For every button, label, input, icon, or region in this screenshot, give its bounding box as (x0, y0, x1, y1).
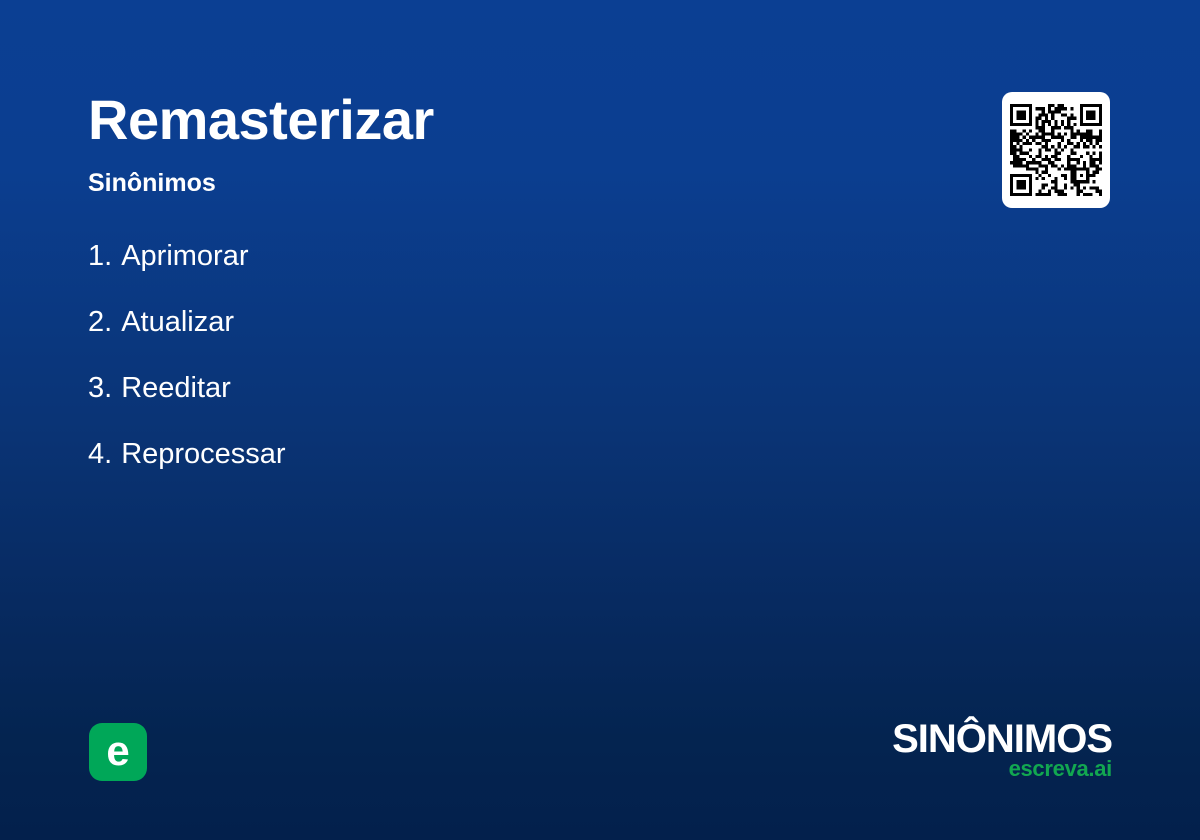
list-item: 1. Aprimorar (88, 236, 868, 302)
escreva-logo-badge[interactable]: e (89, 723, 147, 781)
list-item: 3. Reeditar (88, 368, 868, 434)
brand-name: SINÔNIMOS (892, 718, 1112, 760)
synonym-list: 1. Aprimorar 2. Atualizar 3. Reeditar 4.… (88, 236, 868, 500)
page-title: Remasterizar (88, 88, 434, 152)
list-item-index: 1. (88, 236, 112, 276)
list-item-label: Atualizar (121, 302, 234, 342)
list-item-label: Reeditar (121, 368, 231, 408)
list-item-label: Aprimorar (121, 236, 248, 276)
list-item-index: 4. (88, 434, 112, 474)
list-item-index: 2. (88, 302, 112, 342)
brand-lockup: SINÔNIMOS escreva.ai (892, 718, 1112, 781)
list-item-index: 3. (88, 368, 112, 408)
list-item-label: Reprocessar (121, 434, 285, 474)
page-subtitle: Sinônimos (88, 167, 216, 199)
list-item: 4. Reprocessar (88, 434, 868, 500)
list-item: 2. Atualizar (88, 302, 868, 368)
synonym-card: Remasterizar Sinônimos 1. Aprimorar 2. A… (0, 0, 1200, 840)
qr-code-icon[interactable] (1002, 92, 1110, 208)
badge-letter: e (106, 730, 129, 772)
